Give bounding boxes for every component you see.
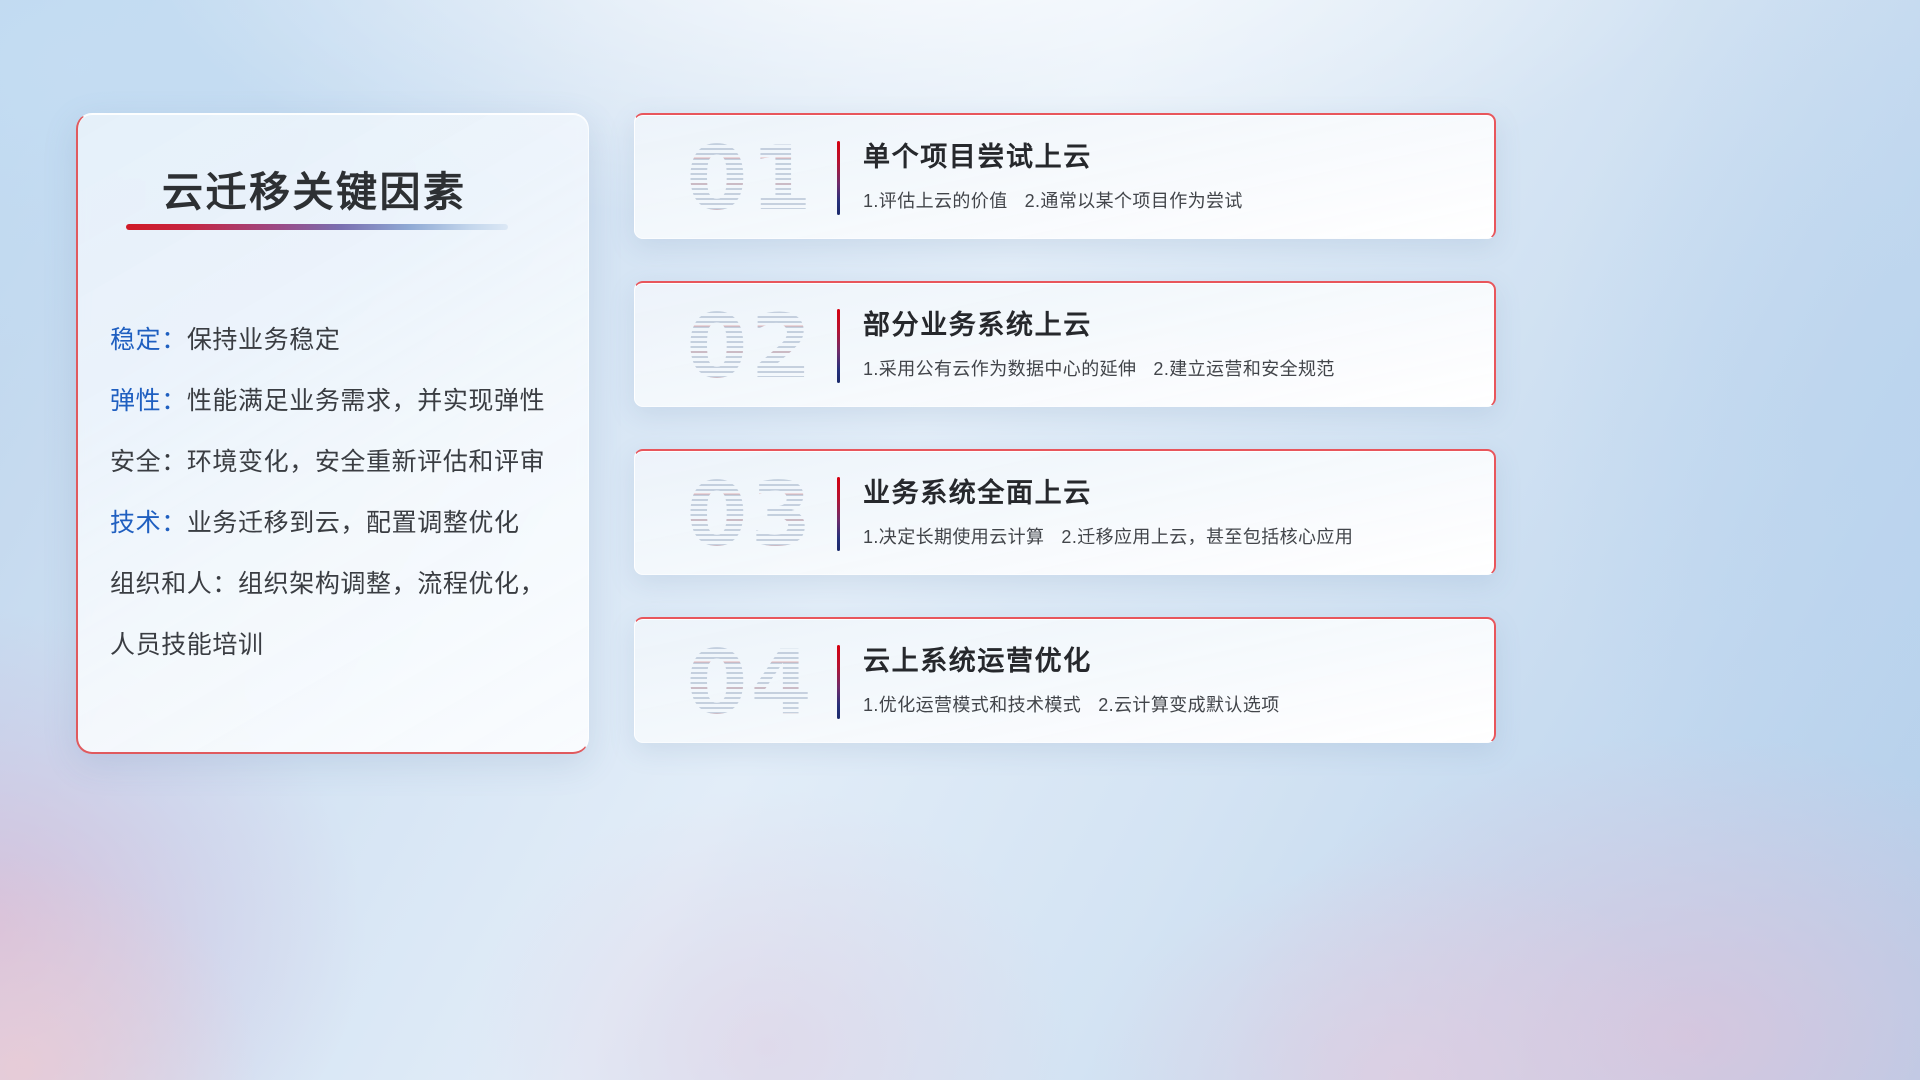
step-point-2: 2.建立运营和安全规范 bbox=[1153, 359, 1334, 379]
migration-steps-list: 01 01 单个项目尝试上云 1.评估上云的价值2.通常以某个项目作为尝试 02… bbox=[634, 113, 1496, 743]
step-point-1: 1.采用公有云作为数据中心的延伸 bbox=[863, 359, 1136, 379]
step-number-ghost-tint: 01 bbox=[663, 123, 838, 235]
step-title: 单个项目尝试上云 bbox=[863, 135, 1470, 174]
key-factors-panel: 云迁移关键因素 稳定：保持业务稳定 弹性：性能满足业务需求，并实现弹性 安全：环… bbox=[76, 113, 589, 754]
factor-label: 技术： bbox=[110, 509, 187, 537]
key-factors-list: 稳定：保持业务稳定 弹性：性能满足业务需求，并实现弹性 安全：环境变化，安全重新… bbox=[110, 310, 570, 676]
list-item: 组织和人：组织架构调整，流程优化， bbox=[110, 554, 570, 615]
step-number-ghost-tint: 02 bbox=[663, 291, 838, 403]
step-detail: 1.评估上云的价值2.通常以某个项目作为尝试 bbox=[863, 187, 1470, 213]
step-divider-bar bbox=[837, 477, 840, 551]
step-title: 部分业务系统上云 bbox=[863, 303, 1470, 342]
step-divider-bar bbox=[837, 645, 840, 719]
factor-value: 环境变化，安全重新评估和评审 bbox=[187, 448, 545, 476]
factor-value: 组织架构调整，流程优化， bbox=[238, 570, 545, 598]
step-content: 业务系统全面上云 1.决定长期使用云计算2.迁移应用上云，甚至包括核心应用 bbox=[863, 471, 1470, 549]
factor-value: 业务迁移到云，配置调整优化 bbox=[187, 509, 520, 537]
step-detail: 1.优化运营模式和技术模式2.云计算变成默认选项 bbox=[863, 691, 1470, 717]
step-point-1: 1.优化运营模式和技术模式 bbox=[863, 695, 1081, 715]
list-item: 弹性：性能满足业务需求，并实现弹性 bbox=[110, 371, 570, 432]
step-point-2: 2.云计算变成默认选项 bbox=[1098, 695, 1279, 715]
step-title: 业务系统全面上云 bbox=[863, 471, 1470, 510]
factor-label: 安全： bbox=[110, 448, 187, 476]
list-item: 人员技能培训 bbox=[110, 615, 570, 676]
list-item: 技术：业务迁移到云，配置调整优化 bbox=[110, 493, 570, 554]
step-number-ghost-tint: 03 bbox=[663, 459, 838, 571]
step-content: 部分业务系统上云 1.采用公有云作为数据中心的延伸2.建立运营和安全规范 bbox=[863, 303, 1470, 381]
step-divider-bar bbox=[837, 309, 840, 383]
title-underline-gradient bbox=[126, 224, 508, 230]
step-card[interactable]: 02 02 部分业务系统上云 1.采用公有云作为数据中心的延伸2.建立运营和安全… bbox=[634, 281, 1496, 407]
step-content: 云上系统运营优化 1.优化运营模式和技术模式2.云计算变成默认选项 bbox=[863, 639, 1470, 717]
factor-label: 组织和人： bbox=[110, 570, 238, 598]
step-number-ghost-tint: 04 bbox=[663, 627, 838, 739]
list-item: 安全：环境变化，安全重新评估和评审 bbox=[110, 432, 570, 493]
step-title: 云上系统运营优化 bbox=[863, 639, 1470, 678]
step-card[interactable]: 01 01 单个项目尝试上云 1.评估上云的价值2.通常以某个项目作为尝试 bbox=[634, 113, 1496, 239]
step-point-1: 1.评估上云的价值 bbox=[863, 191, 1008, 211]
factor-label: 稳定： bbox=[110, 326, 187, 354]
factor-label: 弹性： bbox=[110, 387, 187, 415]
step-card[interactable]: 04 04 云上系统运营优化 1.优化运营模式和技术模式2.云计算变成默认选项 bbox=[634, 617, 1496, 743]
step-detail: 1.采用公有云作为数据中心的延伸2.建立运营和安全规范 bbox=[863, 355, 1470, 381]
list-item: 稳定：保持业务稳定 bbox=[110, 310, 570, 371]
factor-value: 人员技能培训 bbox=[110, 631, 264, 659]
step-card[interactable]: 03 03 业务系统全面上云 1.决定长期使用云计算2.迁移应用上云，甚至包括核… bbox=[634, 449, 1496, 575]
step-detail: 1.决定长期使用云计算2.迁移应用上云，甚至包括核心应用 bbox=[863, 523, 1470, 549]
page-title: 云迁移关键因素 bbox=[162, 158, 467, 218]
step-point-2: 2.通常以某个项目作为尝试 bbox=[1025, 191, 1243, 211]
step-point-2: 2.迁移应用上云，甚至包括核心应用 bbox=[1061, 527, 1353, 547]
step-content: 单个项目尝试上云 1.评估上云的价值2.通常以某个项目作为尝试 bbox=[863, 135, 1470, 213]
step-point-1: 1.决定长期使用云计算 bbox=[863, 527, 1044, 547]
factor-value: 保持业务稳定 bbox=[187, 326, 341, 354]
step-divider-bar bbox=[837, 141, 840, 215]
factor-value: 性能满足业务需求，并实现弹性 bbox=[187, 387, 545, 415]
